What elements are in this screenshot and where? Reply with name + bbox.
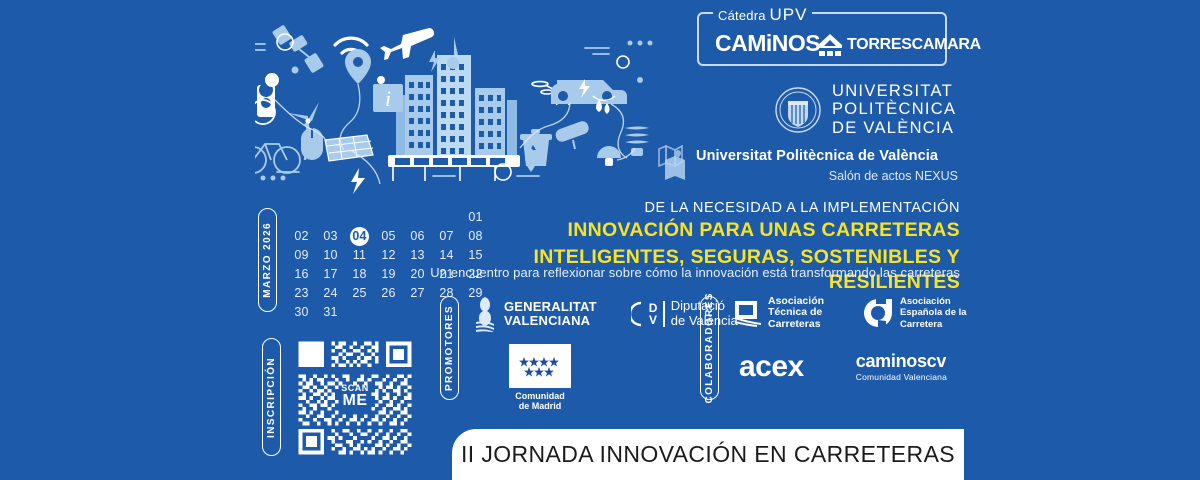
upv-wordmark: UNIVERSITAT POLITÈCNICA DE VALÈNCIA xyxy=(832,82,956,137)
comunidad-madrid-flag xyxy=(509,344,571,388)
atc-line-3: Carreteras xyxy=(768,319,824,330)
promoters-block: PROMOTORES GENERALITAT VALENCIANA xyxy=(440,296,738,412)
logo-caminoscv: caminoscv Comunidad Valenciana xyxy=(856,352,947,382)
calendar-day[interactable]: 14 xyxy=(434,246,459,265)
catedra-upv-caminos-logo: Cátedra UPV CAMiNOS TORRESCAMARA xyxy=(697,12,947,66)
calendar-day-empty xyxy=(347,303,372,322)
calendar-day-empty xyxy=(289,208,314,227)
registration-block[interactable]: INSCRIPCIÓN xyxy=(262,338,415,458)
registration-label: INSCRIPCIÓN xyxy=(266,357,277,438)
calendar-day-empty xyxy=(318,208,343,227)
promoters-row-2: Comunidad de Madrid xyxy=(473,344,738,412)
comunidad-madrid-wordmark: Comunidad de Madrid xyxy=(515,391,565,412)
upv-line-2: POLITÈCNICA xyxy=(832,100,956,118)
logo-comunidad-de-madrid: Comunidad de Madrid xyxy=(509,344,571,412)
calendar-day[interactable]: 24 xyxy=(318,284,343,303)
atc-mark-icon xyxy=(733,299,763,327)
seven-stars-icon xyxy=(518,353,562,379)
calendar-day[interactable]: 02 xyxy=(289,227,314,246)
calendar-day[interactable]: 22 xyxy=(463,265,488,284)
venue-row: Universitat Politècnica de València xyxy=(658,145,958,167)
calendar-day[interactable]: 13 xyxy=(405,246,430,265)
svg-text:i: i xyxy=(385,86,391,111)
calendar-day[interactable]: 16 xyxy=(289,265,314,284)
calendar-day-empty xyxy=(376,208,401,227)
calendar-day-selected[interactable]: 04 xyxy=(350,227,369,246)
torrescamara-house-icon xyxy=(817,33,843,57)
promoters-logo-grid: GENERALITAT VALENCIANA D V Diputació xyxy=(473,296,738,412)
catedra-prefix-text: Cátedra xyxy=(718,8,769,23)
registration-label-pill: INSCRIPCIÓN xyxy=(262,338,281,456)
generalitat-line-2: VALENCIANA xyxy=(504,314,597,328)
logo-acex: acex xyxy=(739,352,804,382)
venue-block: Universitat Politècnica de València Saló… xyxy=(658,145,958,183)
collaborators-block: COLABORADORES Asociación Técnica de Carr… xyxy=(700,296,967,400)
calendar-day[interactable]: 06 xyxy=(405,227,430,246)
catedra-upv-text: UPV xyxy=(769,5,807,24)
calendar-day[interactable]: 17 xyxy=(318,265,343,284)
event-title-banner: II JORNADA INNOVACIÓN EN CARRETERAS xyxy=(452,429,964,480)
upv-line-3: DE VALÈNCIA xyxy=(832,119,956,137)
promoters-label: PROMOTORES xyxy=(444,305,455,391)
event-poster: i xyxy=(0,0,1200,480)
caminoscv-sub: Comunidad Valenciana xyxy=(856,372,947,382)
calendar-month-pill: MARZO 2026 xyxy=(258,208,277,312)
aec-line-2: Española de la xyxy=(900,307,967,318)
calendar-day-empty xyxy=(405,303,430,322)
venue-name: Universitat Politècnica de València xyxy=(696,148,938,164)
collaborators-logo-grid: Asociación Técnica de Carreteras Asociac… xyxy=(733,296,967,400)
upv-seal-icon xyxy=(775,87,821,133)
map-icon xyxy=(658,145,684,167)
collaborators-label-pill: COLABORADORES xyxy=(700,296,719,400)
upv-university-logo: UNIVERSITAT POLITÈCNICA DE VALÈNCIA xyxy=(775,82,956,137)
caminoscv-wordmark: caminoscv xyxy=(856,352,947,370)
calendar-day[interactable]: 30 xyxy=(289,303,314,322)
aec-wordmark: Asociación Española de la Carretera xyxy=(900,296,967,330)
diputacio-arc-icon xyxy=(631,301,643,327)
caminos-wordmark: CAMiNOS xyxy=(715,32,820,55)
generalitat-valenciana-wordmark: GENERALITAT VALENCIANA xyxy=(504,300,597,328)
calendar-day[interactable]: 23 xyxy=(289,284,314,303)
calendar-day-empty xyxy=(347,208,372,227)
upv-line-1: UNIVERSITAT xyxy=(832,82,956,100)
logo-asociacion-tecnica-de-carreteras: Asociación Técnica de Carreteras xyxy=(733,296,824,330)
smart-city-illustration: i xyxy=(255,0,685,200)
calendar-day[interactable]: 20 xyxy=(405,265,430,284)
calendar-day[interactable]: 08 xyxy=(463,227,488,246)
calendar-day-empty xyxy=(376,303,401,322)
event-title: II JORNADA INNOVACIÓN EN CARRETERAS xyxy=(461,441,955,468)
calendar-day-empty xyxy=(405,208,430,227)
calendar-day[interactable]: 18 xyxy=(347,265,372,284)
diputacio-letter-v: V xyxy=(649,314,658,326)
qr-code[interactable]: SCAN ME xyxy=(295,338,415,458)
calendar-day[interactable]: 12 xyxy=(376,246,401,265)
promoters-label-pill: PROMOTORES xyxy=(440,296,459,400)
torrescamara-wordmark: TORRESCAMARA xyxy=(847,36,981,54)
calendar-day[interactable]: 11 xyxy=(347,246,372,265)
generalitat-crest-icon xyxy=(473,296,497,332)
diputacio-letters: D V xyxy=(649,302,658,326)
promoters-row-1: GENERALITAT VALENCIANA D V Diputació xyxy=(473,296,738,332)
collaborators-row-2: acex caminoscv Comunidad Valenciana xyxy=(733,352,967,382)
catedra-label: Cátedra UPV xyxy=(713,5,812,25)
collaborators-row-1: Asociación Técnica de Carreteras Asociac… xyxy=(733,296,967,330)
aec-line-3: Carretera xyxy=(900,319,967,330)
comunidad-madrid-line-1: Comunidad xyxy=(515,391,565,401)
qr-code-image[interactable] xyxy=(295,338,415,458)
calendar-day[interactable]: 01 xyxy=(463,208,488,227)
logo-asociacion-espanola-de-la-carretera: Asociación Española de la Carretera xyxy=(862,296,967,330)
calendar-day[interactable]: 07 xyxy=(434,227,459,246)
atc-wordmark: Asociación Técnica de Carreteras xyxy=(768,296,824,330)
generalitat-line-1: GENERALITAT xyxy=(504,300,597,314)
calendar-day[interactable]: 27 xyxy=(405,284,430,303)
aec-line-1: Asociación xyxy=(900,296,967,307)
calendar-day[interactable]: 05 xyxy=(376,227,401,246)
calendar-day[interactable]: 19 xyxy=(376,265,401,284)
calendar-month-label: MARZO 2026 xyxy=(262,222,273,298)
calendar-day[interactable]: 21 xyxy=(434,265,459,284)
calendar-day[interactable]: 26 xyxy=(376,284,401,303)
calendar-day[interactable]: 25 xyxy=(347,284,372,303)
calendar-day[interactable]: 09 xyxy=(289,246,314,265)
collaborators-label: COLABORADORES xyxy=(704,292,715,404)
venue-room: Salón de actos NEXUS xyxy=(658,169,958,183)
calendar-day[interactable]: 03 xyxy=(318,227,343,246)
comunidad-madrid-line-2: de Madrid xyxy=(515,401,565,411)
logo-generalitat-valenciana: GENERALITAT VALENCIANA xyxy=(473,296,597,332)
diputacio-divider xyxy=(663,301,664,327)
calendar-day[interactable]: 10 xyxy=(318,246,343,265)
calendar-day[interactable]: 15 xyxy=(463,246,488,265)
calendar-day[interactable]: 31 xyxy=(318,303,343,322)
calendar-day-empty xyxy=(434,208,459,227)
aec-mark-icon xyxy=(862,298,894,328)
torrescamara-logo: TORRESCAMARA xyxy=(817,30,945,60)
